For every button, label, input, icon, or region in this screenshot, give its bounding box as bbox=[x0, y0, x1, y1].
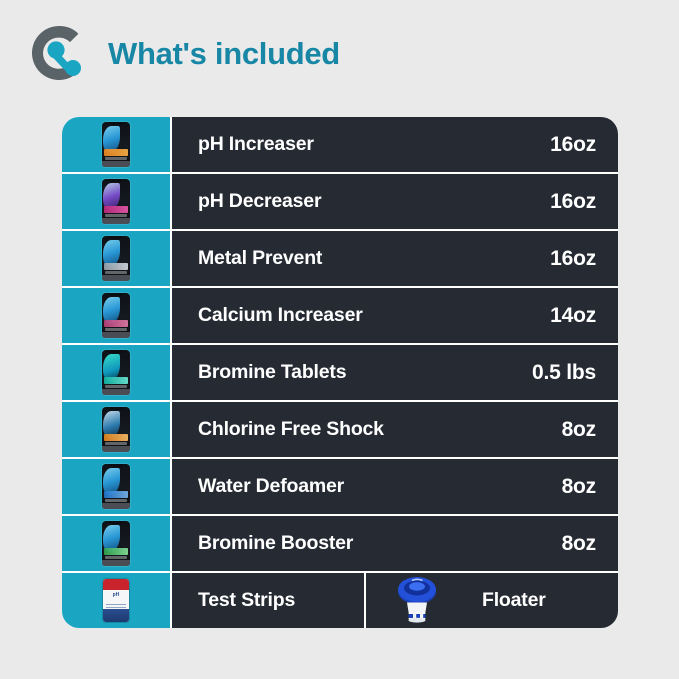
product-amount: 8oz bbox=[562, 476, 596, 497]
product-name: Calcium Increaser bbox=[198, 306, 550, 326]
product-name: Water Defoamer bbox=[198, 477, 562, 497]
product-image-cell bbox=[62, 402, 170, 457]
product-amount: 8oz bbox=[562, 419, 596, 440]
floater-cell: Floater bbox=[366, 573, 618, 628]
product-image-cell bbox=[62, 288, 170, 343]
jar-test-strips-icon: pH bbox=[103, 579, 129, 622]
product-amount: 8oz bbox=[562, 533, 596, 554]
table-row[interactable]: Water Defoamer 8oz bbox=[62, 459, 618, 514]
bottle-calcium-increaser-icon bbox=[102, 293, 130, 338]
product-info-cell: Water Defoamer 8oz bbox=[172, 459, 618, 514]
product-name: Chlorine Free Shock bbox=[198, 420, 562, 440]
table-row[interactable]: Bromine Tablets 0.5 lbs bbox=[62, 345, 618, 400]
product-image-cell bbox=[62, 117, 170, 172]
page-header: What's included bbox=[28, 22, 340, 84]
product-image-cell bbox=[62, 174, 170, 229]
table-row[interactable]: Chlorine Free Shock 8oz bbox=[62, 402, 618, 457]
bottle-chlorine-free-shock-icon bbox=[102, 407, 130, 452]
product-info-cell: pH Increaser 16oz bbox=[172, 117, 618, 172]
table-row[interactable]: pH Decreaser 16oz bbox=[62, 174, 618, 229]
bottle-water-defoamer-icon bbox=[102, 464, 130, 509]
product-name: Test Strips bbox=[198, 591, 364, 611]
whats-included-table: pH Increaser 16oz pH Decreaser 16oz bbox=[62, 117, 618, 628]
test-strips-cell: Test Strips bbox=[172, 573, 364, 628]
product-name: Metal Prevent bbox=[198, 249, 550, 269]
table-row[interactable]: pH Increaser 16oz bbox=[62, 117, 618, 172]
floater-label: Floater bbox=[482, 591, 546, 611]
product-amount: 16oz bbox=[550, 191, 596, 212]
product-image-cell bbox=[62, 231, 170, 286]
table-row[interactable]: Metal Prevent 16oz bbox=[62, 231, 618, 286]
bottle-ph-increaser-icon bbox=[102, 122, 130, 167]
product-info-cell: Bromine Booster 8oz bbox=[172, 516, 618, 571]
product-name: Bromine Tablets bbox=[198, 363, 532, 383]
product-image-cell bbox=[62, 516, 170, 571]
product-amount: 0.5 lbs bbox=[532, 362, 596, 383]
quantum-ring-molecule-logo-icon bbox=[28, 22, 90, 84]
product-amount: 16oz bbox=[550, 248, 596, 269]
product-image-cell bbox=[62, 459, 170, 514]
product-image-cell bbox=[62, 345, 170, 400]
bottle-ph-decreaser-icon bbox=[102, 179, 130, 224]
bottle-bromine-booster-icon bbox=[102, 521, 130, 566]
product-amount: 14oz bbox=[550, 305, 596, 326]
product-info-cell: Metal Prevent 16oz bbox=[172, 231, 618, 286]
chlorine-floater-icon bbox=[390, 574, 444, 628]
whats-included-page: What's included pH Increaser 16oz bbox=[0, 0, 679, 679]
table-row[interactable]: Bromine Booster 8oz bbox=[62, 516, 618, 571]
product-name: pH Increaser bbox=[198, 135, 550, 155]
page-title: What's included bbox=[108, 38, 340, 69]
product-name: pH Decreaser bbox=[198, 192, 550, 212]
table-row-split[interactable]: pH Test Strips bbox=[62, 573, 618, 628]
product-info-cell: Chlorine Free Shock 8oz bbox=[172, 402, 618, 457]
product-image-cell: pH bbox=[62, 573, 170, 628]
table-row[interactable]: Calcium Increaser 14oz bbox=[62, 288, 618, 343]
product-info-cell: Calcium Increaser 14oz bbox=[172, 288, 618, 343]
product-info-cell: pH Decreaser 16oz bbox=[172, 174, 618, 229]
product-name: Bromine Booster bbox=[198, 534, 562, 554]
product-amount: 16oz bbox=[550, 134, 596, 155]
bottle-metal-prevent-icon bbox=[102, 236, 130, 281]
product-info-cell: Bromine Tablets 0.5 lbs bbox=[172, 345, 618, 400]
bottle-bromine-tablets-icon bbox=[102, 350, 130, 395]
